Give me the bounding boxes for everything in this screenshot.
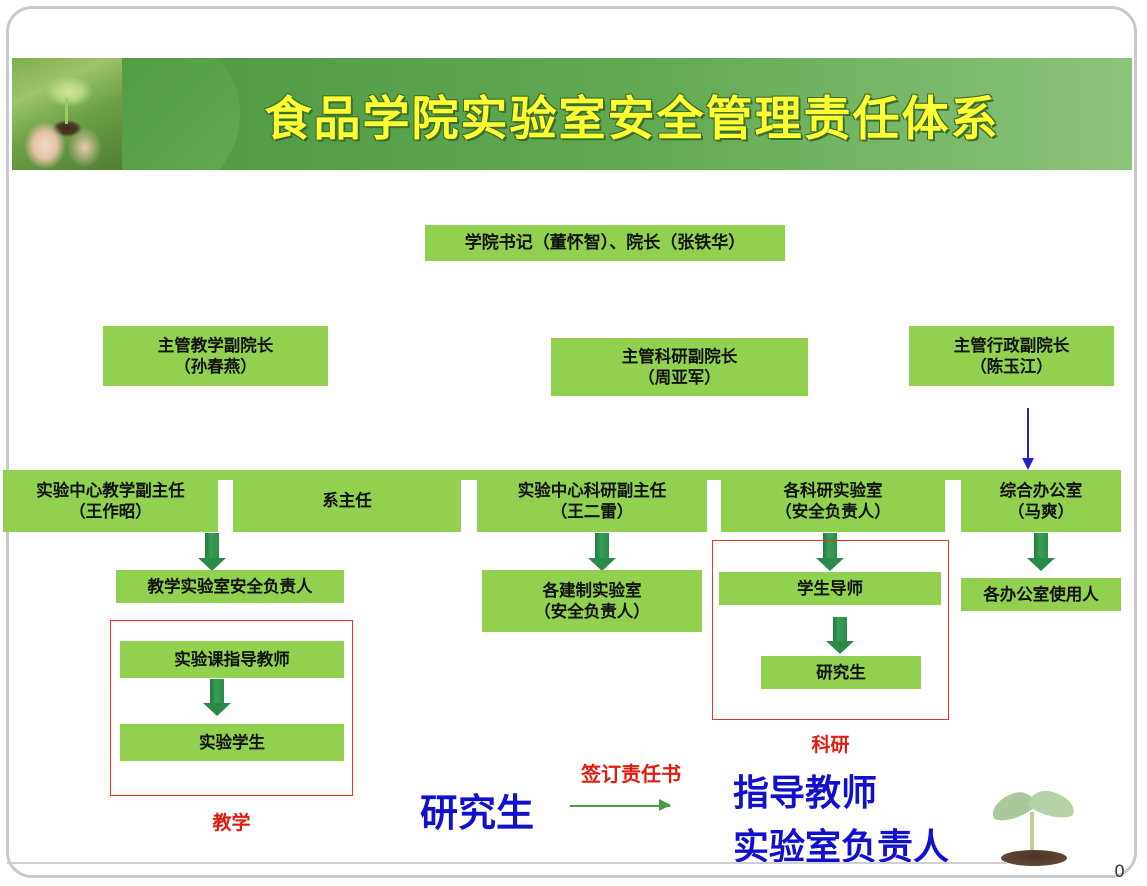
group-label-teaching: 教学 [110,808,353,835]
connector-green-arrow-teacher-to-student [203,679,231,717]
node-label-line1: 主管科研副院长 [622,346,738,367]
seedling-in-hands-photo-icon [12,58,122,170]
connector-stub-1 [218,470,233,480]
node-label-line2: （安全负责人） [534,601,650,622]
node-label: 实验学生 [199,732,265,753]
node-label: 各办公室使用人 [983,584,1099,605]
title-banner: 食品学院实验室安全管理责任体系 [12,58,1132,170]
arrow-shaft [1027,408,1029,458]
connector-stub-2 [461,470,477,480]
connector-stub-4 [945,470,961,480]
node-label-line2: （安全负责人） [775,501,891,522]
legend-sign-arrow-icon [570,798,670,812]
node-label: 研究生 [816,662,866,683]
node-dean-secretary[interactable]: 学院书记（董怀智）、院长（张铁华） [425,225,785,261]
node-vice-dean-admin[interactable]: 主管行政副院长 （陈玉江） [909,326,1114,386]
connector-blue-arrow-admin-to-office [1016,408,1040,470]
node-label-line1: 实验中心科研副主任 [518,480,667,501]
arrow-shaft [833,617,847,641]
arrow-head [659,799,671,811]
node-label-line1: 各建制实验室 [543,580,642,601]
node-center-research-vice-director[interactable]: 实验中心科研副主任 （王二雷） [477,470,707,532]
connector-green-arrow-office-to-officeusers [1027,533,1055,571]
node-label-line1: 主管教学副院长 [158,335,274,356]
node-label-line2: （陈玉江） [970,356,1053,377]
leaf-right-icon [1027,787,1077,820]
node-label-line1: 综合办公室 [1000,480,1083,501]
seedling-sprout-icon [985,782,1081,868]
page-number: 0 [1114,862,1125,882]
node-label: 学院书记（董怀智）、院长（张铁华） [465,232,746,254]
arrow-shaft [205,533,219,558]
group-label-research: 科研 [712,730,949,757]
node-label: 教学实验室安全负责人 [148,576,313,597]
node-label-line2: （孙春燕） [174,356,257,377]
node-department-head[interactable]: 系主任 [233,470,461,532]
node-label: 实验课指导教师 [174,649,290,670]
connector-green-arrow-teachcenter-to-labsafety [198,533,226,571]
arrow-head [1022,458,1034,470]
node-research-labs[interactable]: 各科研实验室 （安全负责人） [721,470,945,532]
footer-divider [7,862,1007,864]
soil-icon [1001,850,1067,866]
connector-green-arrow-advisor-to-grad [826,617,854,655]
node-label-line1: 主管行政副院长 [954,335,1070,356]
node-center-teaching-vice-director[interactable]: 实验中心教学副主任 （王作昭） [3,470,218,532]
arrow-shaft [570,805,670,807]
node-general-office[interactable]: 综合办公室 （马爽） [961,470,1121,532]
node-vice-dean-research[interactable]: 主管科研副院长 （周亚军） [551,338,808,396]
arrow-head [203,703,231,716]
legend-advisor-line1: 指导教师 [733,764,877,816]
arrow-head [826,641,854,654]
node-lab-course-teacher[interactable]: 实验课指导教师 [120,641,344,678]
legend-sign-responsibility-label: 签订责任书 [556,758,706,787]
node-lab-student[interactable]: 实验学生 [120,724,344,761]
node-label: 系主任 [322,490,372,511]
connector-green-arrow-rescenter-to-systemlabs [588,533,616,571]
seedling-stem-icon [65,98,68,124]
page-title: 食品学院实验室安全管理责任体系 [132,58,1132,170]
node-office-users[interactable]: 各办公室使用人 [961,578,1121,611]
node-system-labs[interactable]: 各建制实验室 （安全负责人） [482,570,702,632]
node-label-line2: （周亚军） [638,367,721,388]
node-vice-dean-teaching[interactable]: 主管教学副院长 （孙春燕） [103,326,328,386]
node-label-line2: （马爽） [1008,501,1074,522]
connector-stub-3 [707,470,721,480]
arrow-head [1027,558,1055,571]
arrow-shaft [210,679,224,703]
node-label-line1: 实验中心教学副主任 [36,480,185,501]
node-teaching-lab-safety-officer[interactable]: 教学实验室安全负责人 [116,570,344,603]
node-label-line2: （王作昭） [69,501,152,522]
node-graduate-student[interactable]: 研究生 [761,656,921,689]
legend-graduate-student: 研究生 [420,782,534,837]
node-label-line2: （王二雷） [551,501,634,522]
node-label-line1: 各科研实验室 [784,480,883,501]
arrow-shaft [595,533,609,558]
arrow-shaft [1034,533,1048,558]
slide-canvas: 食品学院实验室安全管理责任体系 学院书记（董怀智）、院长（张铁华） 主管教学副院… [0,0,1147,886]
